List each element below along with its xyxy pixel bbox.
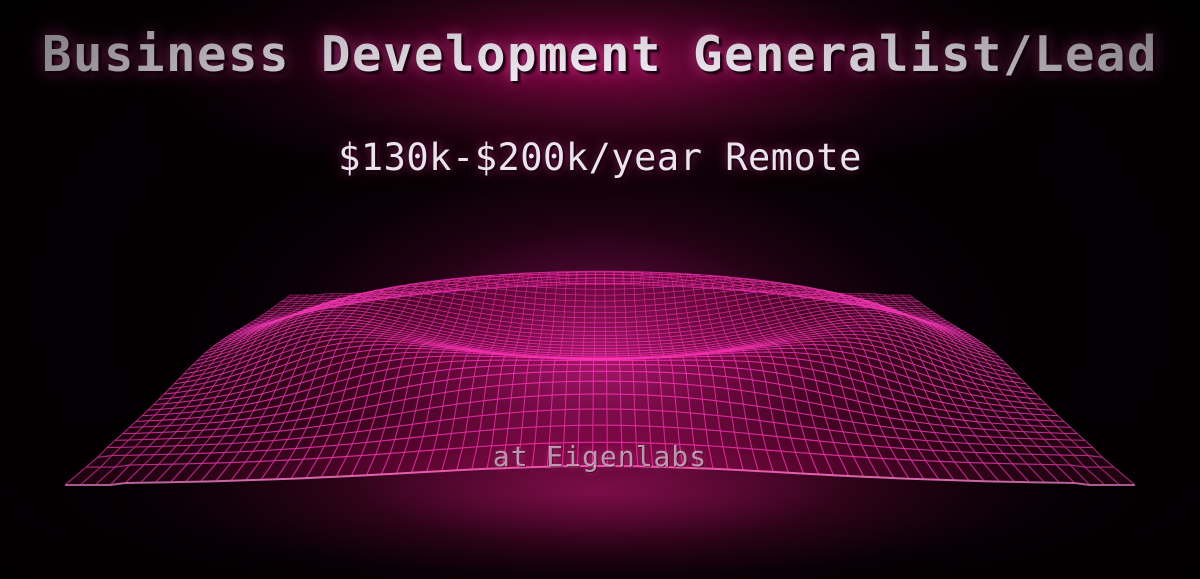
page-title: Business Development Generalist/Lead bbox=[0, 26, 1200, 83]
hero-banner: Business Development Generalist/Lead $13… bbox=[0, 0, 1200, 579]
salary-location: $130k-$200k/year Remote bbox=[0, 136, 1200, 179]
company-name: at Eigenlabs bbox=[0, 440, 1200, 473]
